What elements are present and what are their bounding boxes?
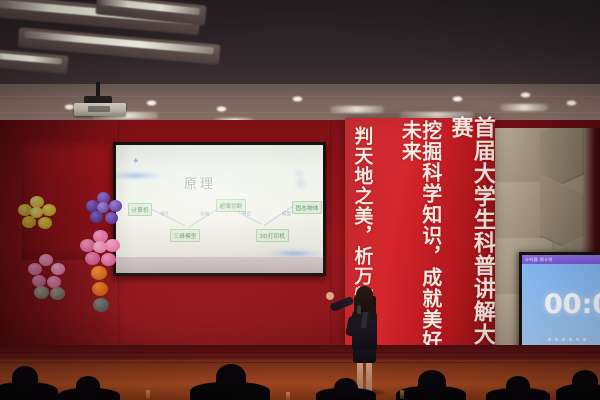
timer-dot — [583, 338, 586, 341]
ceiling-downlight-6 — [520, 92, 531, 98]
projector-label — [88, 106, 110, 112]
balloon — [39, 254, 53, 266]
slide-edge-label-1: 设计 — [160, 211, 169, 217]
slide-edge-label-3: 导出 — [242, 211, 251, 217]
timer-dot — [569, 338, 572, 341]
presenter-skirt — [353, 348, 376, 363]
ceiling-downlight-2 — [146, 100, 157, 106]
balloon — [109, 200, 122, 212]
presenter-leg-left — [357, 362, 363, 392]
floor-plank-line-2 — [0, 357, 600, 358]
ceiling-downlight-3 — [216, 106, 227, 112]
balloon — [105, 239, 120, 252]
presenter-raised-hand — [326, 292, 334, 300]
slide-node-3dmodel: 三维模型 — [170, 229, 200, 242]
balloon-gray-1 — [34, 286, 49, 299]
ceiling-downlight-7 — [566, 100, 577, 106]
timer-dot — [562, 338, 565, 341]
slide-3d-figure-image — [285, 153, 315, 189]
countdown-monitor: 计时器 倒计时 00:04 — [519, 252, 600, 356]
slide-node-solid: 固态物体 — [292, 201, 322, 214]
slide-node-computer: 计算机 — [128, 203, 152, 216]
slide-node-printer: 3D打印机 — [256, 229, 289, 242]
balloon-cluster-yellow — [18, 196, 56, 232]
timer-dot — [555, 338, 558, 341]
balloon — [42, 204, 56, 216]
balloon-orange-2 — [92, 282, 108, 296]
ceiling-downlight-4 — [292, 96, 303, 102]
balloon — [105, 212, 118, 224]
lens-flare-top-left — [116, 171, 164, 180]
projection-screen: ✦ 原理 计算机 三维模型 超薄切断 3D打印机 固态物体 设计 分层 导出 成… — [113, 142, 326, 276]
banner-column-right: 首届大学生科普讲解大赛 — [448, 116, 493, 364]
balloon-gray-2 — [50, 287, 65, 300]
presenter-leg-right — [366, 362, 372, 392]
auditorium-scene: ✦ 原理 计算机 三维模型 超薄切断 3D打印机 固态物体 设计 分层 导出 成… — [0, 0, 600, 400]
banner-column-middle: 挖掘科学知识，成就美好未来 — [400, 120, 441, 364]
balloon — [51, 263, 65, 275]
slide-title: 原理 — [184, 173, 216, 192]
timer-dot — [548, 338, 551, 341]
balloon — [101, 253, 116, 266]
balloon-cluster-purple — [86, 192, 122, 226]
balloon-dark — [93, 298, 109, 312]
timer-dot — [576, 338, 579, 341]
countdown-timer-display: 00:04 — [544, 289, 600, 320]
balloon — [97, 202, 109, 213]
timer-indicator-dots — [548, 338, 586, 341]
screen-bottom-strip — [116, 257, 323, 273]
screen-surface: ✦ 原理 计算机 三维模型 超薄切断 3D打印机 固态物体 设计 分层 导出 成… — [116, 145, 323, 273]
balloon-cluster-pink-right — [80, 230, 120, 268]
balloon — [85, 252, 100, 265]
balloon — [93, 241, 107, 253]
floor-plank-line-3 — [0, 362, 600, 363]
microphone — [357, 305, 361, 314]
sparkle-icon: ✦ — [132, 157, 140, 167]
wall-seam-2 — [330, 120, 331, 365]
ceiling — [0, 0, 600, 128]
stage-floor-sheen — [0, 360, 600, 400]
balloon — [30, 207, 43, 218]
balloon-cluster-pink-left — [28, 254, 64, 290]
ceiling-panel-light-4 — [500, 104, 548, 111]
floor-plank-line-1 — [0, 352, 600, 353]
slide-edge-label-2: 分层 — [200, 211, 209, 217]
monitor-window-title: 计时器 倒计时 — [525, 257, 553, 263]
balloon — [38, 217, 52, 229]
ceiling-downlight-5 — [452, 96, 463, 102]
balloon-orange-1 — [91, 266, 107, 280]
slide-edge-label-4: 成型 — [282, 211, 291, 217]
monitor-screen[interactable]: 计时器 倒计时 00:04 — [522, 255, 600, 351]
ceiling-panel-light-2 — [330, 106, 384, 113]
balloon — [28, 263, 42, 275]
monitor-window-titlebar: 计时器 倒计时 — [522, 255, 600, 264]
